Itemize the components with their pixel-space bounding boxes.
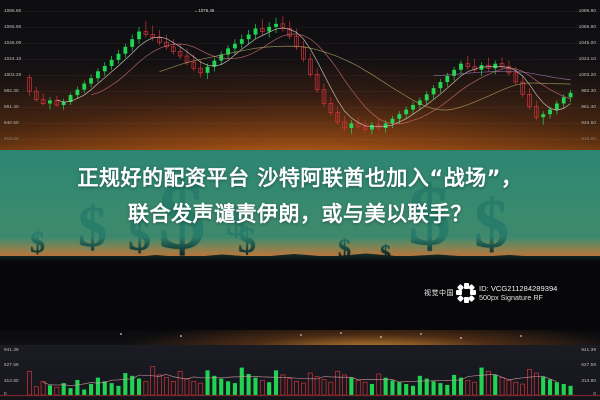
price-axis-left-tick: 1045.00 <box>4 40 21 45</box>
volume-bar-svg <box>0 345 600 400</box>
price-axis-left-tick: 961.40 <box>4 104 19 109</box>
watermark-brand-label: 视觉中国 <box>424 288 454 298</box>
volume-axis-right-tick: 941.39 <box>581 347 596 352</box>
price-peak-annotation: ←1076.45 <box>194 8 214 13</box>
asterisk-burst-icon <box>456 283 476 303</box>
price-axis-right-tick: 1045.00 <box>579 40 596 45</box>
price-candlestick-svg <box>0 0 600 150</box>
page-title: 正规好的配资平台 沙特阿联酋也加入“战场”， 联合发声谴责伊朗，或与美以联手？ <box>0 160 600 232</box>
lower-glow-strip <box>0 330 600 346</box>
volume-axis-left-tick: 313.80 <box>4 378 19 383</box>
price-axis-right-tick: 1024.10 <box>579 56 596 61</box>
price-axis-left-tick: 919.60 <box>4 136 19 141</box>
price-axis-right-tick: 1086.80 <box>579 8 596 13</box>
volume-axis-left-tick: 0 <box>4 391 7 396</box>
watermark-license: 500px Signature RF <box>479 293 557 302</box>
price-axis-left-tick: 1086.80 <box>4 8 21 13</box>
price-axis-left-tick: 940.50 <box>4 120 19 125</box>
price-axis-right-tick: 1003.20 <box>579 72 596 77</box>
price-chart-panel: 1086.80 1065.90 1045.00 1024.10 1003.20 … <box>0 0 600 150</box>
price-axis-left-tick: 1003.20 <box>4 72 21 77</box>
headline-line-1: 正规好的配资平台 沙特阿联酋也加入“战场”， <box>0 160 600 196</box>
volume-axis-right-tick: 313.80 <box>581 378 596 383</box>
price-axis-left-tick: 1065.90 <box>4 24 21 29</box>
volume-chart-panel: 941.39 627.59 313.80 0 941.39 627.59 313… <box>0 345 600 400</box>
screenshot-root: 1086.80 1065.90 1045.00 1024.10 1003.20 … <box>0 0 600 400</box>
price-axis-right-tick: 919.60 <box>581 136 596 141</box>
volume-axis-left-tick: 941.39 <box>4 347 19 352</box>
price-axis-left-tick: 1024.10 <box>4 56 21 61</box>
price-axis-right-tick: 1065.90 <box>579 24 596 29</box>
watermark-id: ID: VCG211284289394 <box>479 284 557 293</box>
price-axis-right-tick: 961.40 <box>581 104 596 109</box>
price-axis-right-tick: 940.50 <box>581 120 596 125</box>
hero-photo: $ $ $ $ $ $ $ $ $ $ 正规好的配资平台 沙特阿联酋也加入“战场… <box>0 150 600 330</box>
watermark-text: ID: VCG211284289394 500px Signature RF <box>479 284 557 303</box>
watermark: 视觉中国 ID: VCG211284289394 500px Signature… <box>424 283 557 303</box>
volume-axis-left-tick: 627.59 <box>4 362 19 367</box>
headline-line-2: 联合发声谴责伊朗，或与美以联手？ <box>0 196 600 232</box>
volume-axis-right-tick: 0 <box>593 391 596 396</box>
price-axis-right-tick: 982.30 <box>581 88 596 93</box>
price-axis-left-tick: 982.30 <box>4 88 19 93</box>
volume-axis-right-tick: 627.59 <box>581 362 596 367</box>
